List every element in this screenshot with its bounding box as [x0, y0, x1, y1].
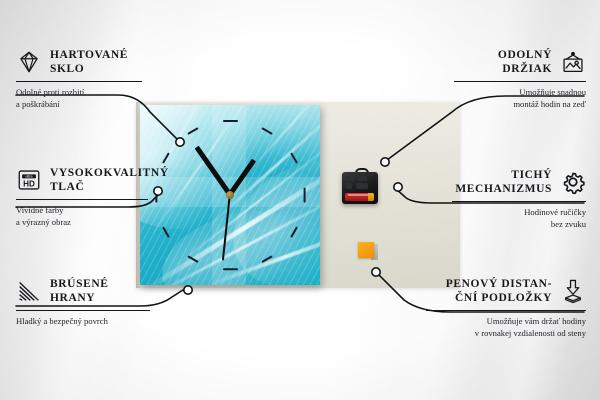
glass-wall-clock [140, 105, 320, 285]
quartz-mechanism [342, 168, 378, 204]
mechanism-vent [346, 183, 352, 189]
feature-divider [16, 81, 142, 82]
product-photo [136, 102, 460, 288]
foam-spacer-pad [358, 242, 378, 260]
feature-divider [16, 199, 148, 200]
feature-silent-mechanism: TICHÝ MECHANIZMUS Hodinové ručičky bez z… [452, 168, 586, 230]
infographic-canvas: HARTOVANÉ SKLO Odolné proti rozbití a po… [0, 0, 600, 400]
feature-title: BRÚSENÉ HRANY [50, 277, 109, 305]
foam-pad-top [358, 242, 374, 258]
battery-label-stripe [348, 194, 368, 196]
down-arrow-pad-icon [560, 278, 586, 304]
feature-divider [454, 81, 586, 82]
feature-title: ODOLNÝ DRŽIAK [498, 48, 552, 76]
feature-foam-spacers: PENOVÝ DISTAN- ČNÍ PODLOŽKY Umožňuje vám… [426, 277, 586, 339]
clock-hour-tick [223, 268, 238, 270]
feature-divider [426, 310, 586, 311]
svg-text:ultra: ultra [26, 175, 33, 179]
feature-title: HARTOVANÉ SKLO [50, 48, 128, 76]
feature-ground-edges: BRÚSENÉ HRANY Hladký a bezpečný povrch [16, 277, 150, 328]
feature-header: TICHÝ MECHANIZMUS [452, 168, 586, 196]
bevel-lines-icon [16, 278, 42, 304]
feature-title: PENOVÝ DISTAN- ČNÍ PODLOŽKY [446, 277, 552, 305]
ultra-hd-icon: ultra HD [16, 167, 42, 193]
mechanism-vent [358, 176, 367, 181]
feature-durable-holder: ODOLNÝ DRŽIAK Umožňuje snadnou montáž ho… [454, 48, 586, 110]
feature-header: ultra HD VYSOKOKVALITNÝ TLAČ [16, 166, 148, 194]
feature-high-quality-print: ultra HD VYSOKOKVALITNÝ TLAČ Vividné far… [16, 166, 148, 228]
aa-battery [345, 193, 374, 201]
feature-divider [452, 201, 586, 202]
feature-header: BRÚSENÉ HRANY [16, 277, 150, 305]
clock-hour-tick [223, 120, 238, 122]
mechanism-vent [346, 176, 355, 181]
feature-header: ODOLNÝ DRŽIAK [454, 48, 586, 76]
feature-header: PENOVÝ DISTAN- ČNÍ PODLOŽKY [426, 277, 586, 305]
feature-title: VYSOKOKVALITNÝ TLAČ [50, 166, 169, 194]
feature-tempered-glass: HARTOVANÉ SKLO Odolné proti rozbití a po… [16, 48, 142, 110]
gear-icon [560, 169, 586, 195]
battery-positive-cap [368, 193, 374, 201]
feature-title: TICHÝ MECHANIZMUS [455, 168, 552, 196]
diamond-icon [16, 49, 42, 75]
picture-frame-icon [560, 49, 586, 75]
glass-gloss [140, 105, 320, 175]
mechanism-body [342, 172, 378, 204]
feature-header: HARTOVANÉ SKLO [16, 48, 142, 76]
mechanism-vent [356, 183, 368, 189]
clock-hour-tick [303, 187, 305, 202]
clock-hand-hub [226, 191, 234, 199]
feature-divider [16, 310, 150, 311]
svg-text:HD: HD [23, 180, 35, 189]
